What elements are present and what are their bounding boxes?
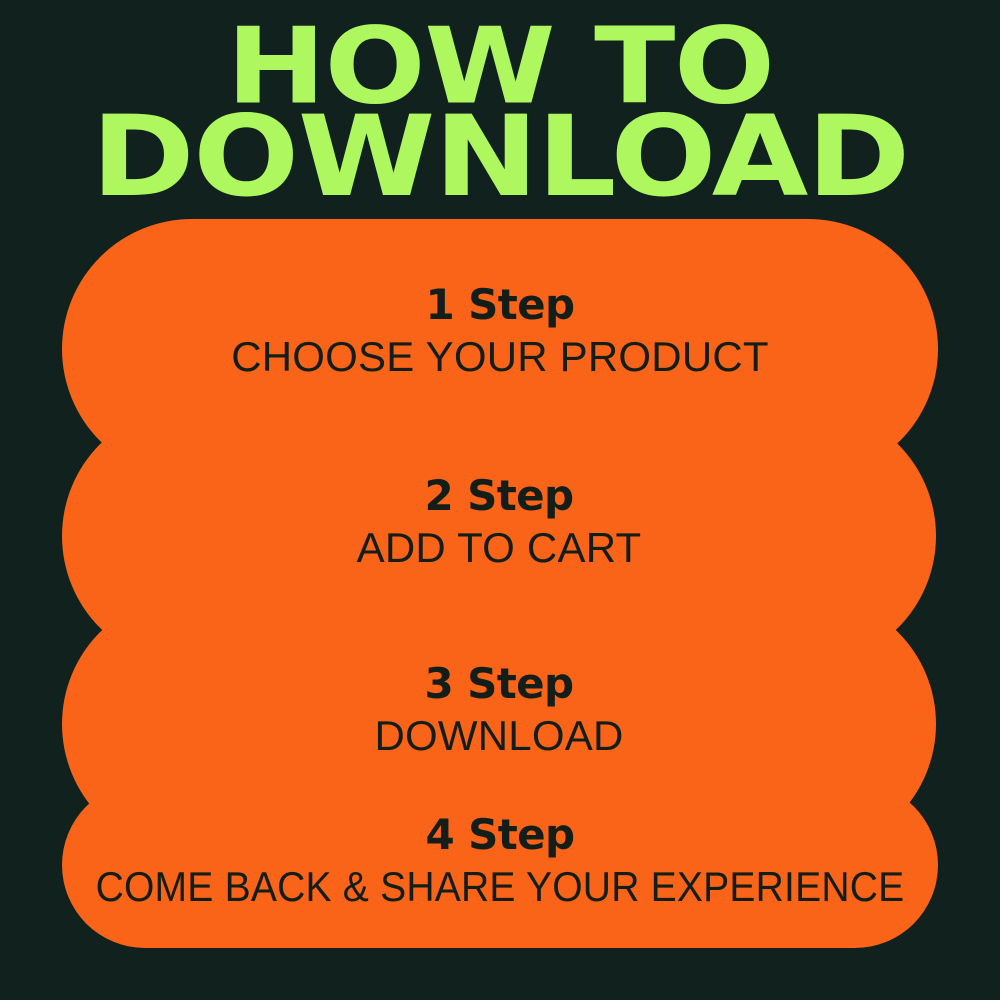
step-1-subtitle: CHOOSE YOUR PRODUCT — [62, 335, 938, 379]
step-2-subtitle: ADD TO CART — [62, 526, 936, 570]
poster-canvas: HOW TO DOWNLOAD 1 Step CHOOSE YOUR PRODU… — [0, 0, 1000, 1000]
step-item-4[interactable]: 4 Step COME BACK & SHARE YOUR EXPERIENCE — [62, 782, 938, 948]
step-1-content: 1 Step CHOOSE YOUR PRODUCT — [62, 284, 938, 379]
step-1-heading: 1 Step — [62, 284, 938, 326]
step-4-subtitle: COME BACK & SHARE YOUR EXPERIENCE — [93, 865, 908, 909]
step-3-content: 3 Step DOWNLOAD — [62, 663, 936, 758]
title-line-2: DOWNLOAD — [0, 113, 1000, 202]
page-title: HOW TO DOWNLOAD — [0, 28, 1000, 196]
step-3-heading: 3 Step — [62, 663, 936, 705]
step-2-heading: 2 Step — [62, 475, 936, 517]
step-2-content: 2 Step ADD TO CART — [62, 475, 936, 570]
step-3-subtitle: DOWNLOAD — [62, 714, 936, 758]
step-4-heading: 4 Step — [62, 814, 938, 856]
step-4-content: 4 Step COME BACK & SHARE YOUR EXPERIENCE — [62, 814, 938, 909]
